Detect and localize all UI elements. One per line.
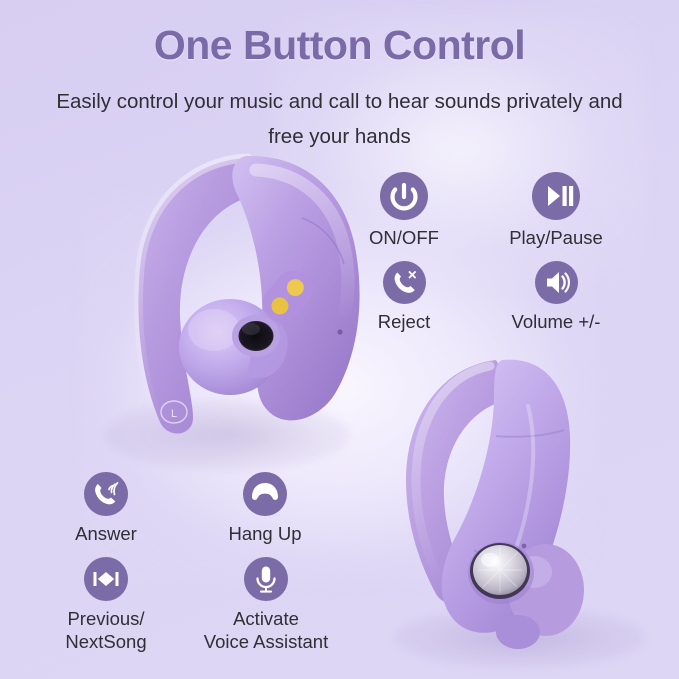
phone-answer-icon (84, 472, 128, 516)
play-pause-circle (532, 172, 580, 220)
control-play-pause[interactable]: Play/Pause (504, 172, 608, 249)
reject-circle (383, 261, 426, 304)
power-icon (380, 172, 428, 220)
volume-circle (535, 261, 578, 304)
control-volume[interactable]: Volume +/- (500, 261, 612, 333)
hang-up-label: Hang Up (215, 522, 315, 545)
speaker-volume-icon (535, 261, 578, 304)
control-prev-next-song[interactable]: Previous/ NextSong (48, 557, 164, 653)
control-reject[interactable]: Reject (358, 261, 450, 333)
play-pause-icon (532, 172, 580, 220)
volume-label: Volume +/- (500, 310, 612, 333)
main-earbud-image: L (96, 140, 376, 440)
hang-up-circle (243, 472, 287, 516)
skip-track-icon (84, 557, 128, 601)
product-infographic: One Button Control Easily control your m… (0, 0, 679, 679)
prev-next-song-circle (84, 557, 128, 601)
svg-text:L: L (171, 408, 177, 420)
voice-assistant-label: Activate Voice Assistant (186, 607, 346, 653)
second-earbud-image (378, 340, 668, 650)
on-off-circle (380, 172, 428, 220)
control-hang-up[interactable]: Hang Up (215, 472, 315, 545)
answer-label: Answer (58, 522, 154, 545)
prev-next-song-label: Previous/ NextSong (48, 607, 164, 653)
control-voice-assistant[interactable]: Activate Voice Assistant (186, 557, 346, 653)
on-off-label: ON/OFF (354, 226, 454, 249)
multifunction-button (468, 542, 534, 604)
control-answer[interactable]: Answer (58, 472, 154, 545)
reject-label: Reject (358, 310, 450, 333)
answer-circle (84, 472, 128, 516)
page-title: One Button Control (0, 22, 679, 69)
control-on-off[interactable]: ON/OFF (354, 172, 454, 249)
phone-hangup-icon (243, 472, 287, 516)
voice-assistant-circle (244, 557, 288, 601)
microphone-icon (244, 557, 288, 601)
phone-reject-icon (383, 261, 426, 304)
play-pause-label: Play/Pause (504, 226, 608, 249)
